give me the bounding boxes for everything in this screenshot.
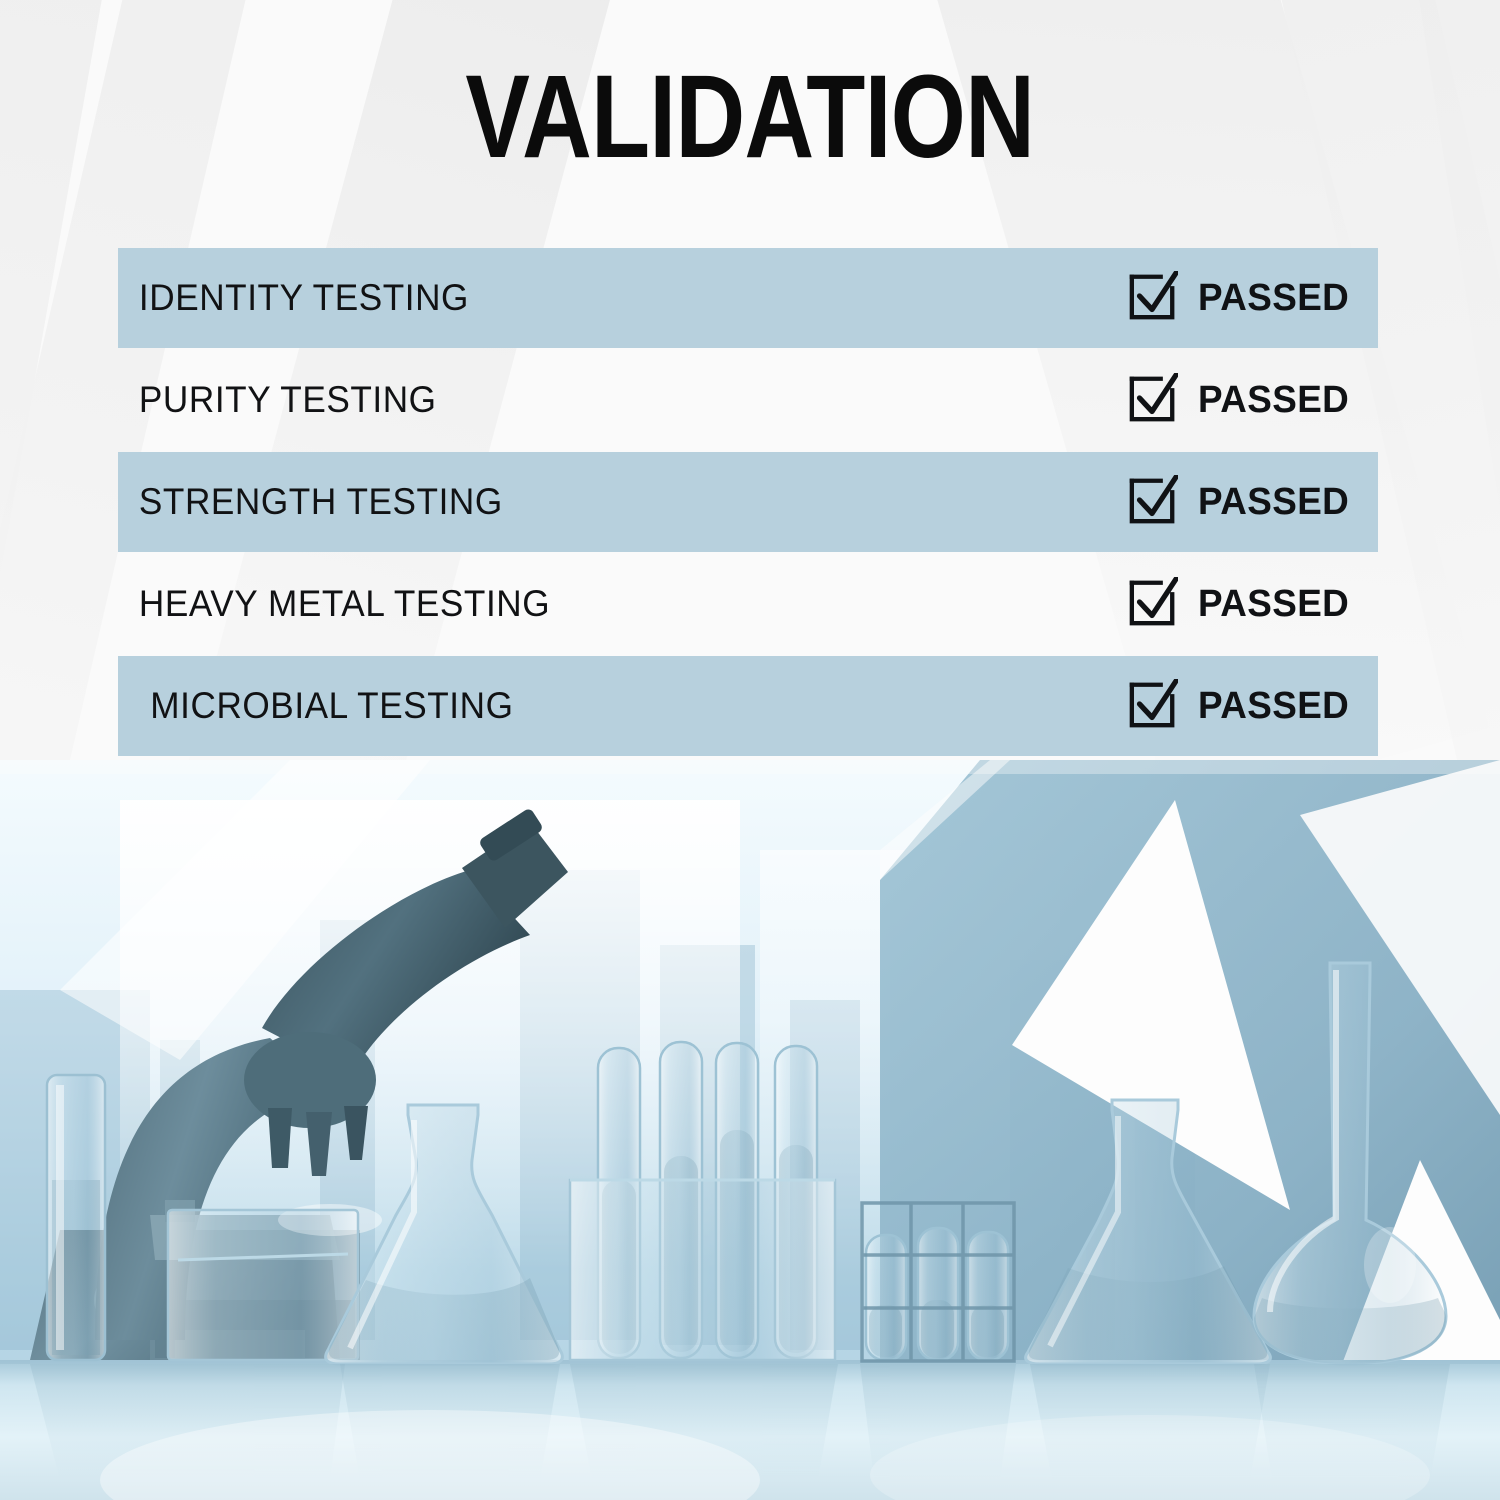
validation-checklist: IDENTITY TESTING PASSED PURITY TESTING P… — [118, 248, 1378, 758]
checkbox-checked-icon — [1128, 475, 1178, 525]
laboratory-photo — [0, 760, 1500, 1500]
status-badge: PASSED — [1198, 277, 1349, 320]
test-name-label: IDENTITY TESTING — [118, 277, 1078, 319]
test-name-label: MICROBIAL TESTING — [118, 685, 1078, 727]
checkbox-checked-icon — [1128, 373, 1178, 423]
graduated-cylinder — [47, 1075, 105, 1360]
status-group: PASSED — [1128, 377, 1378, 423]
checkbox-checked-icon — [1128, 271, 1178, 321]
test-name-label: HEAVY METAL TESTING — [118, 583, 1078, 625]
checklist-row-purity-testing[interactable]: PURITY TESTING PASSED — [118, 350, 1378, 450]
status-badge: PASSED — [1198, 685, 1349, 728]
checkbox-checked-icon — [1128, 679, 1178, 729]
status-badge: PASSED — [1198, 379, 1349, 422]
title-block: VALIDATION — [0, 58, 1500, 176]
status-group: PASSED — [1128, 581, 1378, 627]
page-title: VALIDATION — [466, 58, 1035, 176]
test-name-label: STRENGTH TESTING — [118, 481, 1078, 523]
checkbox-checked-icon — [1128, 577, 1178, 627]
test-tube-rack-tall — [570, 1042, 835, 1360]
status-badge: PASSED — [1198, 583, 1349, 626]
test-name-label: PURITY TESTING — [118, 379, 1078, 421]
checklist-row-microbial-testing[interactable]: MICROBIAL TESTING PASSED — [118, 656, 1378, 756]
beaker — [168, 1210, 358, 1360]
checklist-row-heavy-metal-testing[interactable]: HEAVY METAL TESTING PASSED — [118, 554, 1378, 654]
status-badge: PASSED — [1198, 481, 1349, 524]
status-group: PASSED — [1128, 683, 1378, 729]
status-group: PASSED — [1128, 479, 1378, 525]
checklist-row-identity-testing[interactable]: IDENTITY TESTING PASSED — [118, 248, 1378, 348]
status-group: PASSED — [1128, 275, 1378, 321]
checklist-row-strength-testing[interactable]: STRENGTH TESTING PASSED — [118, 452, 1378, 552]
